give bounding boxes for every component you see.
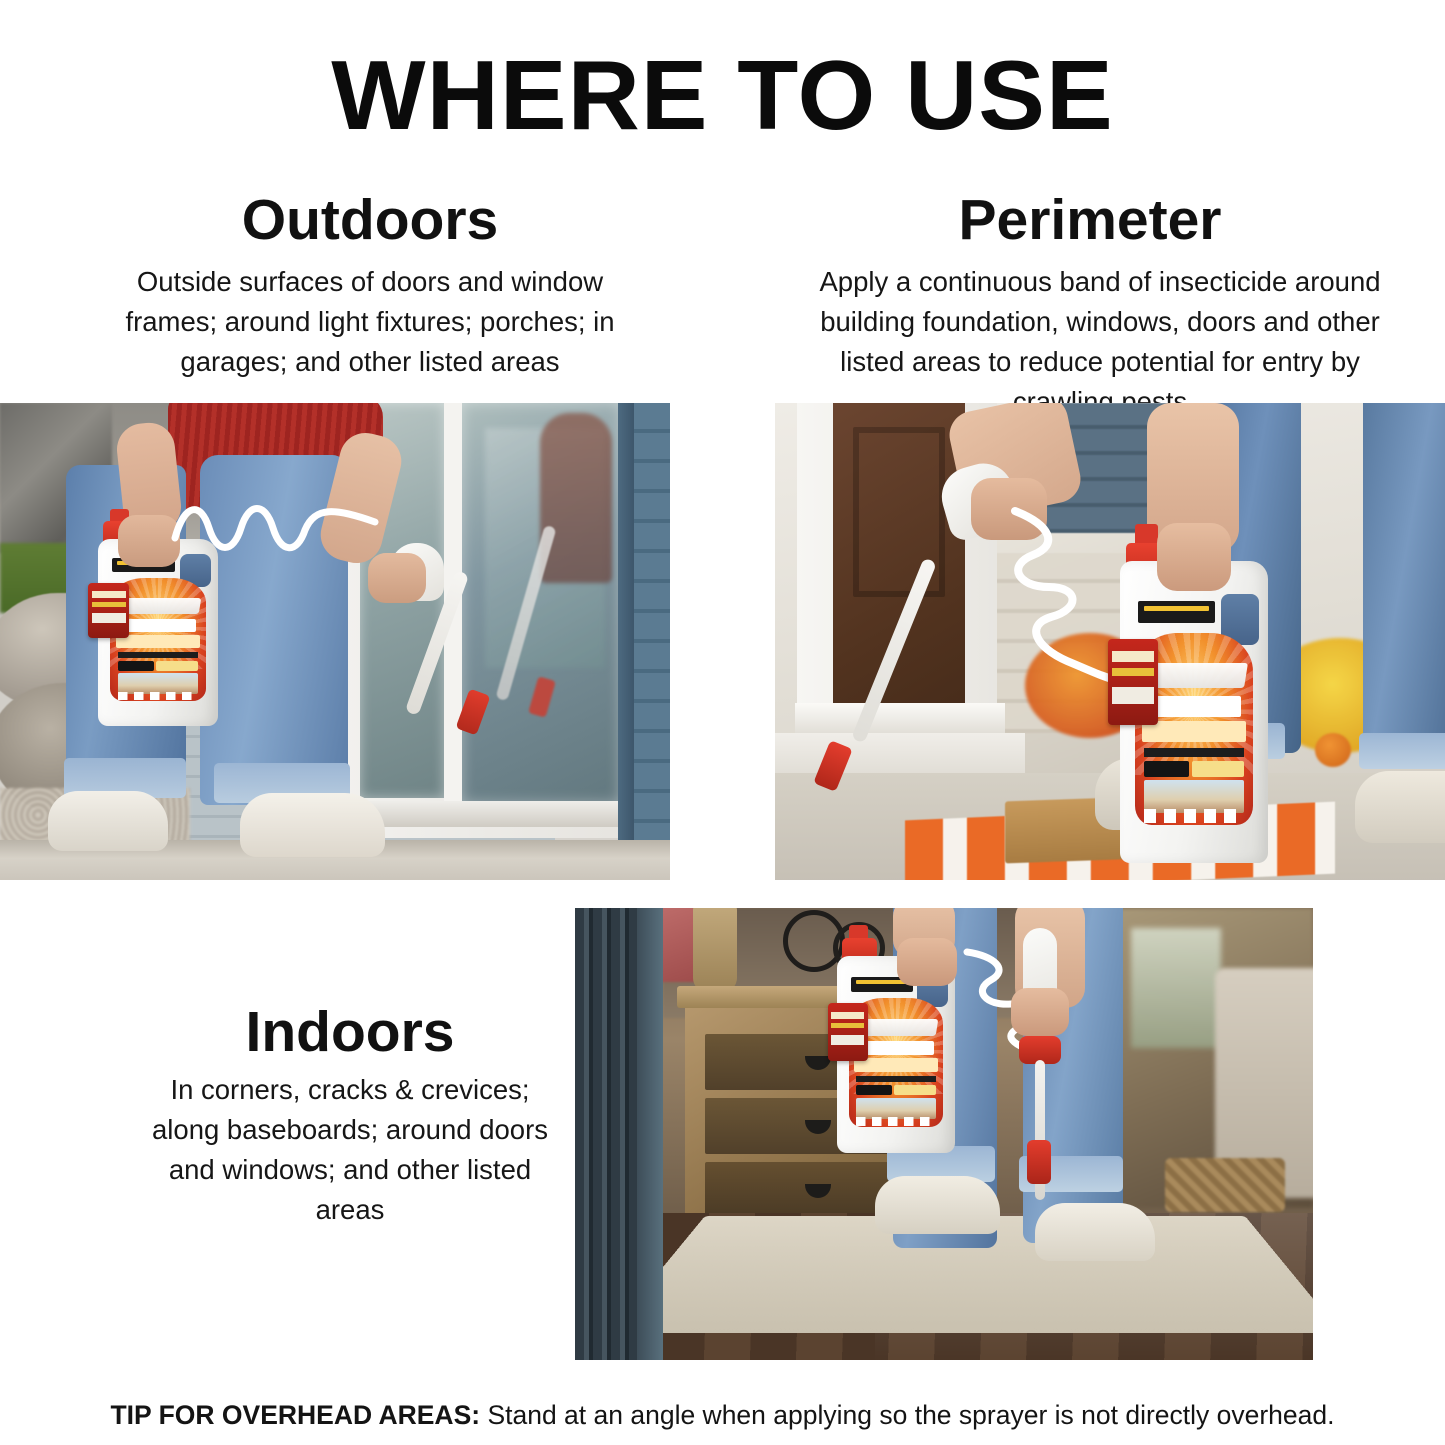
label-bug-icons [856,1117,935,1126]
white-sneaker [1355,771,1445,843]
jeans-cuff [1359,733,1445,769]
person-hand-holding-bottle [897,938,957,986]
background-window [1131,928,1221,1048]
white-sneaker [240,793,385,857]
product-name-line1 [120,619,197,633]
coiled-hose [1011,511,1121,681]
product-name-line2 [116,635,200,649]
product-name-line1 [858,1041,934,1055]
white-sneaker [1035,1203,1155,1261]
month-control-badge [1192,761,1244,776]
accushot-hang-tag [88,583,129,638]
footer-tip-text: Stand at an angle when applying so the s… [480,1400,1334,1430]
white-sneaker [875,1176,1000,1234]
dark-wall-panel [575,908,645,1360]
accushot-hang-tag [828,1003,868,1061]
person-hand-holding-bottle [1157,523,1231,591]
patio-surface [0,858,670,880]
sprayer-tip [1027,1140,1051,1184]
photo-outdoors [0,403,670,880]
decorative-pumpkin [1315,733,1351,767]
person-hand-holding-wand [1011,988,1069,1036]
kills-on-contact-badge [118,661,154,671]
product-name-line2 [1142,721,1246,742]
product-name-line1 [1147,696,1242,717]
blue-corner-trim [618,403,634,843]
non-staining-badge [1138,601,1215,623]
door-jamb [637,908,663,1360]
month-control-badge [894,1085,936,1095]
accushot-hang-tag [1108,639,1158,725]
reflected-person [540,413,612,583]
footer-tip-label: TIP FOR OVERHEAD AREAS: [111,1400,481,1430]
section-body-perimeter: Apply a continuous band of insecticide a… [800,262,1400,422]
kills-on-contact-badge [1144,761,1189,776]
photo-perimeter [775,403,1445,880]
label-subtitle-strip [856,1076,935,1082]
label-subtitle-strip [118,652,199,658]
coiled-hose [175,498,375,558]
blue-lap-siding [634,403,670,853]
person-hand-holding-bottle [118,515,180,567]
kills-on-contact-badge [856,1085,892,1095]
person-hand-holding-wand [368,553,426,603]
section-heading-indoors: Indoors [110,1003,590,1063]
section-heading-outdoors: Outdoors [60,191,680,251]
label-subtitle-strip [1144,748,1243,758]
window-sill [340,801,635,827]
section-body-indoors: In corners, cracks & crevices; along bas… [140,1070,560,1230]
section-body-outdoors: Outside surfaces of doors and window fra… [90,262,650,382]
label-bug-icons [1144,809,1243,822]
section-heading-perimeter: Perimeter [780,191,1400,251]
month-control-badge [156,661,198,671]
person-jeans-right-leg [1363,403,1445,743]
white-sneaker [48,791,168,851]
jute-doormat [1165,1158,1285,1212]
page-title: WHERE TO USE [0,44,1445,147]
label-bug-icons [118,692,199,701]
footer-tip: TIP FOR OVERHEAD AREAS: Stand at an angl… [0,1398,1445,1432]
wooden-vase [693,908,737,992]
product-bottle [1120,543,1268,863]
photo-indoors [575,908,1313,1360]
label-house-photo [1144,780,1243,813]
